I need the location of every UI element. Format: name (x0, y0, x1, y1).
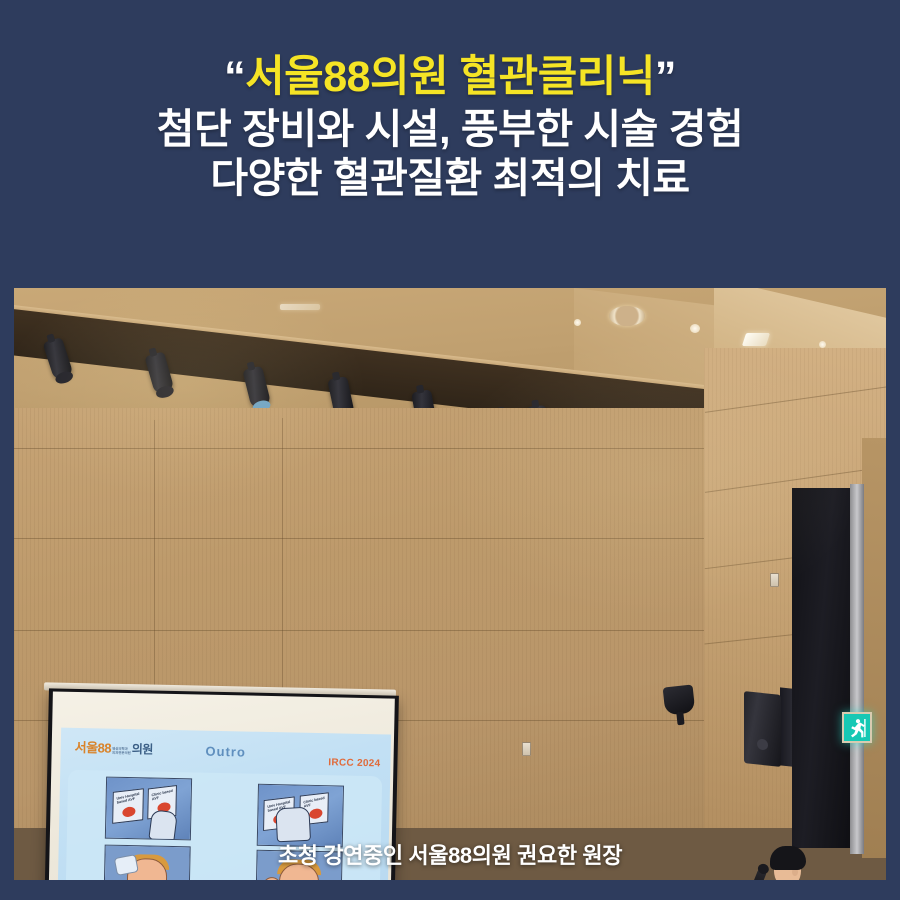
ceiling-spot-small-icon (819, 341, 826, 348)
subtitle-line-1: 첨단 장비와 시설, 풍부한 시술 경험 (157, 105, 743, 153)
exit-sign-icon (842, 712, 872, 743)
slide-conference-label: IRCC 2024 (328, 757, 380, 769)
stage-curtain (792, 488, 854, 848)
promo-card: “서울88의원 혈관클리닉” 첨단 장비와 시설, 풍부한 시술 경험 다양한 … (0, 0, 900, 900)
far-right-wall (862, 438, 886, 858)
subtitle-line-2: 다양한 혈관질환 최적의 치료 (210, 154, 689, 202)
photo-caption: 초청 강연중인 서울88의원 권요한 원장 (0, 838, 900, 870)
meme-button-label: Clinic based AVF (151, 788, 178, 802)
meme-button-label: Univ Hospital based AVF (116, 791, 143, 805)
quote-open-mark: “ (224, 53, 245, 101)
quote-close-mark: ” (655, 53, 676, 101)
wall-speaker-icon (744, 691, 781, 767)
wall-outlet (770, 573, 779, 587)
page-title-text: 서울88의원 혈관클리닉 (245, 53, 655, 101)
speaker-bracket (780, 687, 792, 766)
ceiling-downlight-icon (609, 306, 645, 326)
ceiling-spot-small-icon (690, 324, 700, 333)
ceiling-spot-small-icon (574, 319, 581, 326)
door-frame (850, 484, 864, 854)
ceiling-panel-light-icon (742, 333, 770, 346)
meme-button-label: Clinic based AVF (303, 795, 330, 809)
meme-panel: Univ Hospital based AVF Clinic based AVF (105, 777, 192, 841)
ceiling-panel-light-icon (280, 304, 320, 310)
header-block: “서울88의원 혈관클리닉” 첨단 장비와 시설, 풍부한 시술 경험 다양한 … (0, 0, 900, 288)
page-title: “서울88의원 혈관클리닉” (224, 52, 676, 103)
wall-outlet (522, 742, 531, 756)
lecture-hall-photo: 서울88 영상의학과 외과전문의원 의원 Outro IRCC 2024 (14, 288, 886, 880)
